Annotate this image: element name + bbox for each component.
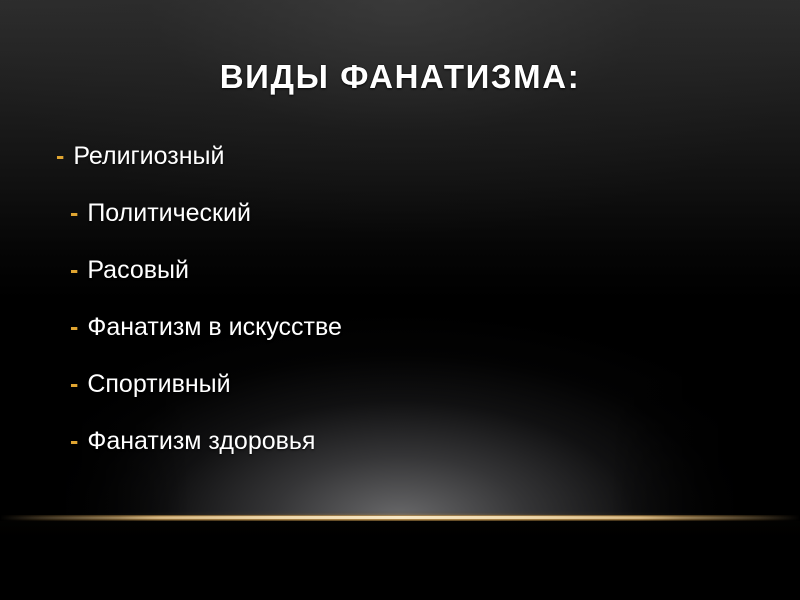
list-item: - Политический <box>0 199 800 256</box>
slide-content: Виды фанатизма: - Религиозный - Политиче… <box>0 0 800 600</box>
list-item-label: Расовый <box>87 256 189 285</box>
dash-bullet-icon: - <box>70 315 78 340</box>
list-item-label: Политический <box>87 199 251 228</box>
list-item-label: Фанатизм в искусстве <box>87 313 342 342</box>
slide-title: Виды фанатизма: <box>0 58 800 96</box>
dash-bullet-icon: - <box>70 429 78 454</box>
list-item: - Фанатизм здоровья <box>0 427 800 484</box>
list-item-label: Спортивный <box>87 370 230 399</box>
dash-bullet-icon: - <box>70 372 78 397</box>
list-item: - Расовый <box>0 256 800 313</box>
dash-bullet-icon: - <box>70 201 78 226</box>
list-item: - Религиозный <box>0 142 800 199</box>
presentation-slide: Виды фанатизма: - Религиозный - Политиче… <box>0 0 800 600</box>
list-item: - Спортивный <box>0 370 800 427</box>
fanaticism-types-list: - Религиозный - Политический - Расовый -… <box>0 142 800 484</box>
list-item-label: Религиозный <box>73 142 224 171</box>
list-item: - Фанатизм в искусстве <box>0 313 800 370</box>
dash-bullet-icon: - <box>56 144 64 169</box>
dash-bullet-icon: - <box>70 258 78 283</box>
list-item-label: Фанатизм здоровья <box>87 427 315 456</box>
